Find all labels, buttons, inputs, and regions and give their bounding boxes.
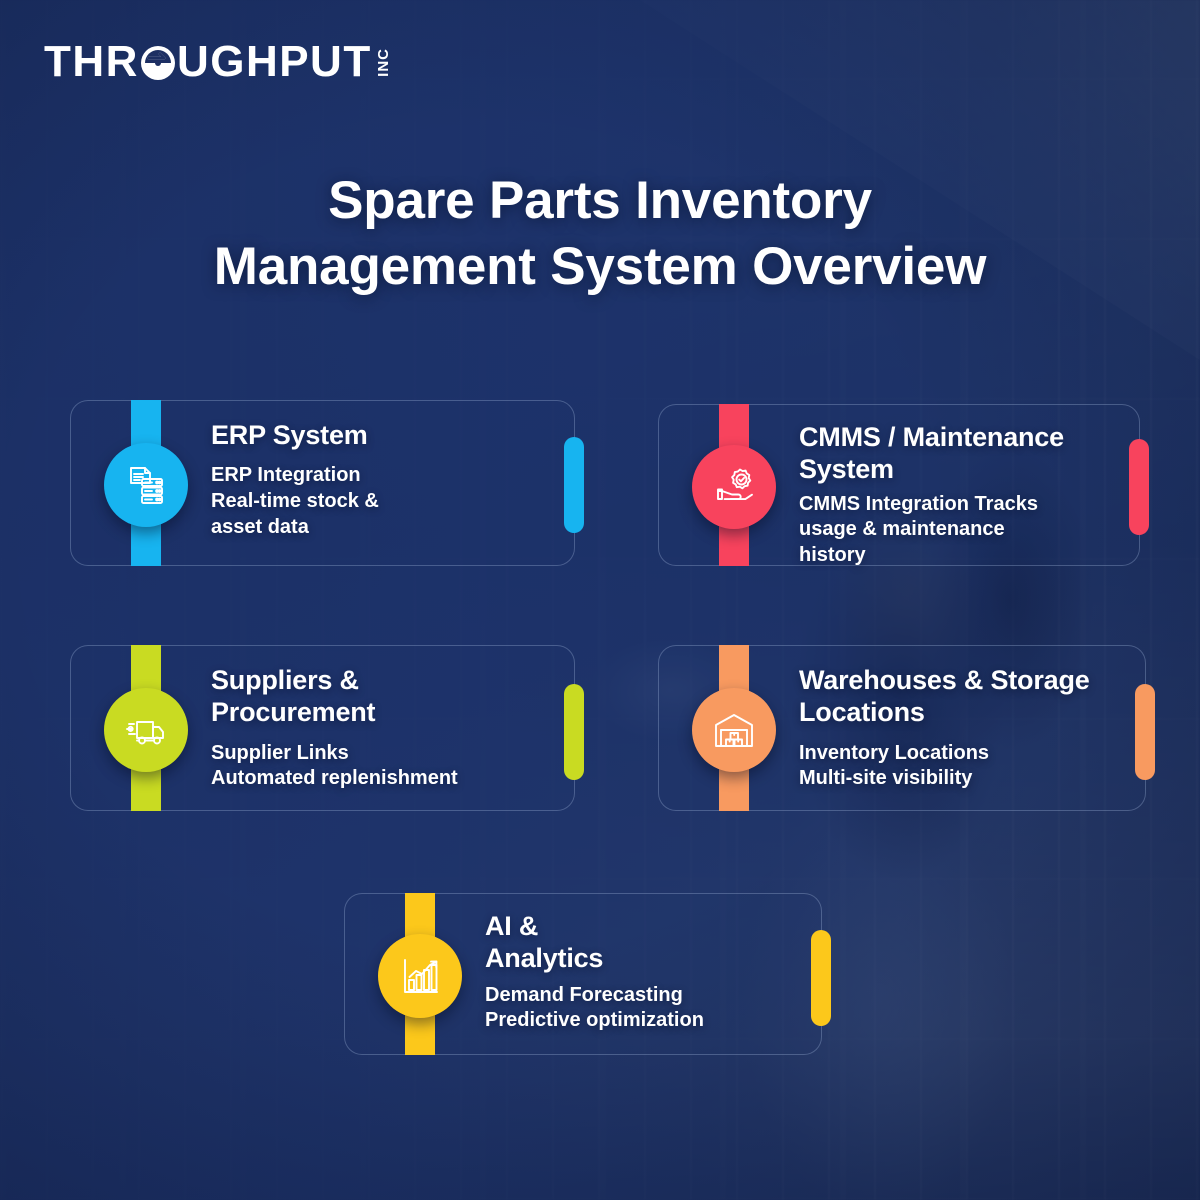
card-description: CMMS Integration Tracks usage & maintena…	[799, 492, 1129, 569]
card-erp-system[interactable]: ERP System ERP Integration Real-time sto…	[70, 400, 575, 566]
edge-accent-pill	[564, 684, 584, 780]
card-content: Warehouses & Storage Locations Inventory…	[799, 664, 1139, 792]
card-content: AI & Analytics Demand Forecasting Predic…	[485, 910, 815, 1034]
hand-gear-maintenance-icon	[692, 445, 776, 529]
card-title: Suppliers & Procurement	[211, 664, 461, 729]
card-description: Supplier Links Automated replenishment	[211, 741, 561, 792]
card-title: CMMS / Maintenance System	[799, 421, 1129, 486]
card-ai-analytics[interactable]: AI & Analytics Demand Forecasting Predic…	[344, 893, 822, 1055]
erp-server-documents-icon	[104, 443, 188, 527]
logo-text-part2: UGHPUT	[177, 40, 372, 84]
page-title: Spare Parts Inventory Management System …	[0, 168, 1200, 299]
card-description: ERP Integration Real-time stock & asset …	[211, 463, 541, 540]
brand-logo[interactable]: THR UGHPUT INC	[44, 36, 391, 88]
page-title-line-2: Management System Overview	[70, 234, 1130, 300]
delivery-truck-icon	[104, 688, 188, 772]
card-content: CMMS / Maintenance System CMMS Integrati…	[799, 421, 1129, 569]
logo-inc-label: INC	[376, 48, 391, 77]
bar-chart-growth-icon	[378, 934, 462, 1018]
card-content: ERP System ERP Integration Real-time sto…	[211, 419, 541, 540]
card-description: Inventory Locations Multi-site visibilit…	[799, 741, 1139, 792]
card-warehouses-storage-locations[interactable]: Warehouses & Storage Locations Inventory…	[658, 645, 1146, 811]
infographic-canvas: THR UGHPUT INC Spare Parts Inventory Man…	[0, 0, 1200, 1200]
edge-accent-pill	[564, 437, 584, 533]
logo-wordmark: THR UGHPUT	[44, 40, 372, 84]
card-content: Suppliers & Procurement Supplier Links A…	[211, 664, 561, 792]
logo-text-part1: THR	[44, 40, 139, 84]
card-description: Demand Forecasting Predictive optimizati…	[485, 983, 815, 1034]
card-suppliers-procurement[interactable]: Suppliers & Procurement Supplier Links A…	[70, 645, 575, 811]
warehouse-boxes-icon	[692, 688, 776, 772]
card-title: AI & Analytics	[485, 910, 645, 975]
throughput-circle-icon	[140, 45, 176, 81]
page-title-line-1: Spare Parts Inventory	[70, 168, 1130, 234]
card-title: ERP System	[211, 419, 541, 451]
edge-accent-pill	[1129, 439, 1149, 535]
card-title: Warehouses & Storage Locations	[799, 664, 1099, 729]
card-cmms-maintenance-system[interactable]: CMMS / Maintenance System CMMS Integrati…	[658, 404, 1140, 566]
